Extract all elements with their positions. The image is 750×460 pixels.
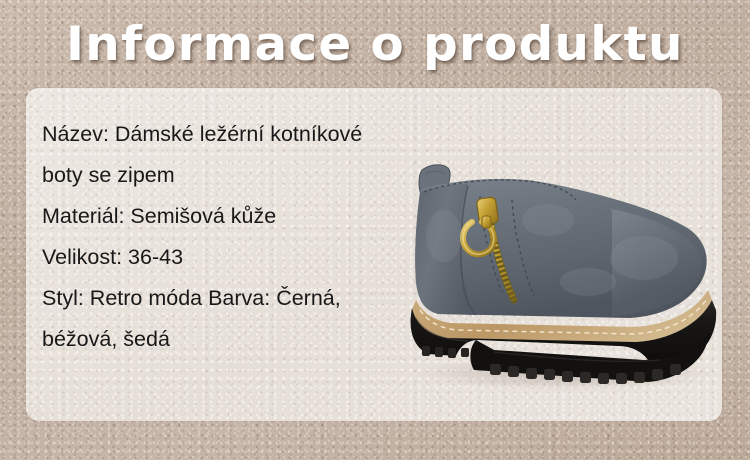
product-info-banner: Informace o produktu Název: Dámské ležér… [0,0,750,460]
product-info-card: Název: Dámské ležérní kotníkové boty se … [26,88,722,421]
spec-line-color-cont: béžová, šedá [42,319,442,360]
spec-line-name-cont: boty se zipem [42,155,442,196]
spec-line-size: Velikost: 36-43 [42,237,442,278]
product-spec-list: Název: Dámské ležérní kotníkové boty se … [42,114,442,360]
spec-line-name: Název: Dámské ležérní kotníkové [42,114,442,155]
product-image-boot [398,150,722,400]
page-title: Informace o produktu [66,21,684,68]
title-bar: Informace o produktu [0,0,750,88]
spec-line-material: Materiál: Semišová kůže [42,196,442,237]
spec-line-style-color: Styl: Retro móda Barva: Černá, [42,278,442,319]
